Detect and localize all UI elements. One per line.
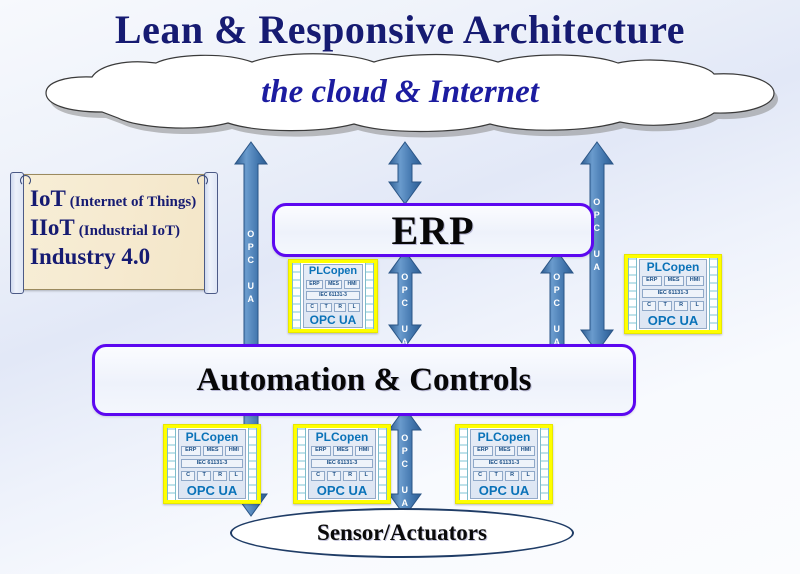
iot-line-1: IoT (Internet of Things): [30, 186, 202, 212]
chip-mes: MES: [333, 446, 353, 456]
plcopen-card-core: PLCopen ERP MES HMI IEC 61131-3 C T R L …: [639, 259, 707, 329]
erp-node[interactable]: ERP: [272, 203, 594, 257]
chip-t: T: [320, 303, 332, 312]
plcopen-chip-row-1: ERP MES HMI: [473, 446, 535, 456]
iot-line-3: Industry 4.0: [30, 244, 202, 270]
plcopen-title: PLCopen: [473, 431, 535, 443]
chip-mes: MES: [203, 446, 223, 456]
plcopen-footer: OPC UA: [473, 484, 535, 497]
plcopen-card-inner: PLCopen ERP MES HMI IEC 61131-3 C T R L …: [167, 428, 257, 500]
chip-erp: ERP: [311, 446, 331, 456]
plcopen-card-inner: PLCopen ERP MES HMI IEC 61131-3 C T R L …: [292, 263, 374, 329]
ladder-rail-left: [459, 428, 468, 500]
plcopen-footer: OPC UA: [181, 484, 243, 497]
chip-l: L: [521, 471, 535, 481]
plcopen-chip-row-3: C T R L: [642, 301, 704, 311]
chip-l: L: [359, 471, 373, 481]
iot-line-2-expansion: (Industrial IoT): [79, 223, 180, 239]
chip-l: L: [348, 303, 360, 312]
iot-line-2: IIoT (Industrial IoT): [30, 215, 202, 241]
plcopen-card-inner: PLCopen ERP MES HMI IEC 61131-3 C T R L …: [459, 428, 549, 500]
plcopen-chip-row-3: C T R L: [306, 303, 360, 312]
ladder-rail-left: [292, 263, 301, 329]
scroll-curl-left: [10, 172, 24, 294]
chip-iec61131: IEC 61131-3: [181, 459, 243, 469]
ladder-rail-left: [628, 258, 637, 330]
plcopen-card-core: PLCopen ERP MES HMI IEC 61131-3 C T R L …: [308, 429, 376, 499]
cloud-shape: the cloud & Internet: [8, 52, 792, 148]
automation-controls-label: Automation & Controls: [197, 362, 532, 399]
plcopen-card[interactable]: PLCopen ERP MES HMI IEC 61131-3 C T R L …: [293, 424, 391, 504]
chip-c: C: [473, 471, 487, 481]
plcopen-card-core: PLCopen ERP MES HMI IEC 61131-3 C T R L …: [303, 264, 363, 328]
chip-c: C: [181, 471, 195, 481]
plcopen-card-inner: PLCopen ERP MES HMI IEC 61131-3 C T R L …: [297, 428, 387, 500]
plcopen-title: PLCopen: [642, 261, 704, 273]
chip-hmi: HMI: [686, 276, 704, 286]
arrow-erp-to-automation-right: OPCUA: [540, 249, 574, 349]
ladder-rail-right: [248, 428, 257, 500]
ladder-rail-left: [167, 428, 176, 500]
chip-r: R: [505, 471, 519, 481]
scroll-knob-left: [20, 175, 31, 186]
chip-r: R: [334, 303, 346, 312]
ladder-rail-right: [378, 428, 387, 500]
chip-erp: ERP: [473, 446, 493, 456]
iot-line-1-term: IoT: [30, 186, 66, 211]
chip-t: T: [489, 471, 503, 481]
ladder-rail-right: [709, 258, 718, 330]
plcopen-chip-row-1: ERP MES HMI: [311, 446, 373, 456]
plcopen-chip-row-3: C T R L: [181, 471, 243, 481]
plcopen-card[interactable]: PLCopen ERP MES HMI IEC 61131-3 C T R L …: [163, 424, 261, 504]
chip-hmi: HMI: [225, 446, 243, 456]
chip-t: T: [658, 301, 672, 311]
plcopen-chip-row-2: IEC 61131-3: [473, 459, 535, 469]
plcopen-chip-row-1: ERP MES HMI: [642, 276, 704, 286]
chip-erp: ERP: [642, 276, 662, 286]
plcopen-chip-row-2: IEC 61131-3: [306, 291, 360, 300]
plcopen-chip-row-2: IEC 61131-3: [642, 289, 704, 299]
chip-c: C: [642, 301, 656, 311]
plcopen-chip-row-1: ERP MES HMI: [181, 446, 243, 456]
chip-iec61131: IEC 61131-3: [306, 291, 360, 300]
automation-controls-node[interactable]: Automation & Controls: [92, 344, 636, 416]
chip-iec61131: IEC 61131-3: [473, 459, 535, 469]
sensor-actuators-label: Sensor/Actuators: [317, 520, 487, 546]
chip-iec61131: IEC 61131-3: [311, 459, 373, 469]
chip-mes: MES: [664, 276, 684, 286]
ladder-rail-left: [297, 428, 306, 500]
iot-line-2-term: IIoT: [30, 215, 75, 240]
iot-line-3-term: Industry 4.0: [30, 244, 150, 269]
iot-panel: IoT (Internet of Things) IIoT (Industria…: [10, 172, 218, 292]
chip-hmi: HMI: [344, 280, 360, 289]
chip-t: T: [197, 471, 211, 481]
chip-l: L: [229, 471, 243, 481]
plcopen-chip-row-3: C T R L: [473, 471, 535, 481]
plcopen-card[interactable]: PLCopen ERP MES HMI IEC 61131-3 C T R L …: [288, 259, 378, 333]
cloud-label: the cloud & Internet: [8, 74, 792, 111]
ladder-rail-right: [540, 428, 549, 500]
scroll-knob-right: [197, 175, 208, 186]
arrow-erp-to-automation-center: OPCUA: [388, 249, 422, 349]
diagram-canvas: Lean & Responsive Architecture the cloud…: [0, 0, 800, 574]
chip-iec61131: IEC 61131-3: [642, 289, 704, 299]
plcopen-chip-row-2: IEC 61131-3: [181, 459, 243, 469]
plcopen-footer: OPC UA: [311, 484, 373, 497]
chip-c: C: [306, 303, 318, 312]
chip-c: C: [311, 471, 325, 481]
chip-erp: ERP: [181, 446, 201, 456]
plcopen-card-inner: PLCopen ERP MES HMI IEC 61131-3 C T R L …: [628, 258, 718, 330]
chip-l: L: [690, 301, 704, 311]
chip-mes: MES: [325, 280, 342, 289]
chip-r: R: [343, 471, 357, 481]
plcopen-title: PLCopen: [306, 266, 360, 277]
plcopen-footer: OPC UA: [642, 314, 704, 327]
plcopen-footer: OPC UA: [306, 314, 360, 326]
chip-hmi: HMI: [355, 446, 373, 456]
sensor-actuators-node[interactable]: Sensor/Actuators: [230, 508, 574, 558]
plcopen-chip-row-2: IEC 61131-3: [311, 459, 373, 469]
chip-r: R: [674, 301, 688, 311]
plcopen-title: PLCopen: [181, 431, 243, 443]
erp-label: ERP: [392, 207, 475, 254]
plcopen-card-core: PLCopen ERP MES HMI IEC 61131-3 C T R L …: [470, 429, 538, 499]
arrow-cloud-to-erp: [388, 140, 422, 206]
plcopen-chip-row-1: ERP MES HMI: [306, 280, 360, 289]
chip-r: R: [213, 471, 227, 481]
plcopen-card-core: PLCopen ERP MES HMI IEC 61131-3 C T R L …: [178, 429, 246, 499]
ladder-rail-right: [365, 263, 374, 329]
plcopen-chip-row-3: C T R L: [311, 471, 373, 481]
page-title: Lean & Responsive Architecture: [0, 6, 800, 53]
scroll-curl-right: [204, 172, 218, 294]
plcopen-card[interactable]: PLCopen ERP MES HMI IEC 61131-3 C T R L …: [624, 254, 722, 334]
plcopen-title: PLCopen: [311, 431, 373, 443]
plcopen-card[interactable]: PLCopen ERP MES HMI IEC 61131-3 C T R L …: [455, 424, 553, 504]
iot-line-1-expansion: (Internet of Things): [70, 194, 196, 210]
chip-erp: ERP: [306, 280, 323, 289]
iot-panel-lines: IoT (Internet of Things) IIoT (Industria…: [30, 186, 202, 286]
chip-mes: MES: [495, 446, 515, 456]
chip-hmi: HMI: [517, 446, 535, 456]
arrow-automation-to-sensors-center: OPCUA: [388, 406, 422, 518]
chip-t: T: [327, 471, 341, 481]
